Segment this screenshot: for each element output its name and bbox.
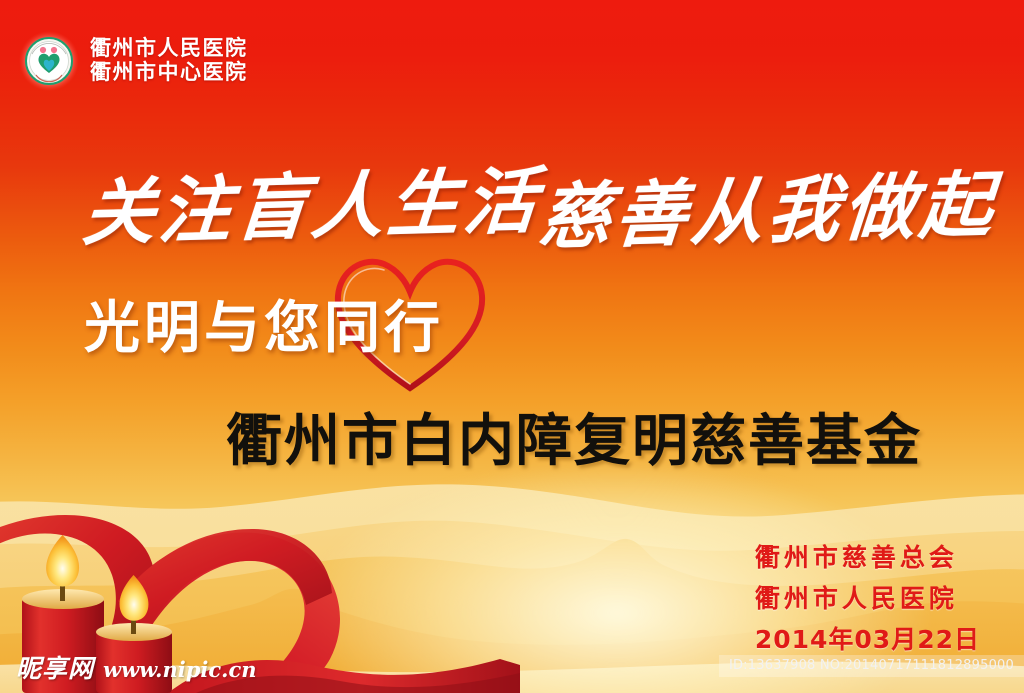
hospital-name-line1: 衢州市人民医院: [90, 37, 248, 61]
image-id-tag: ID:13637908 NO:20140717111812895000: [719, 655, 1024, 677]
signature-date: 2014年03月22日: [755, 620, 980, 656]
hospital-names: 衢州市人民医院 衢州市中心医院: [90, 37, 248, 84]
poster-canvas: 衢州市人民医院 衢州市中心医院 关注盲人生活 慈善从我做起 光明与您同行 衢州市…: [0, 0, 1024, 693]
hospital-name-line2: 衢州市中心医院: [90, 61, 248, 85]
hospital-heart-emblem-icon: [18, 30, 80, 92]
slogan-row: 关注盲人生活 慈善从我做起: [0, 148, 1024, 248]
signature-org2: 衢州市人民医院: [755, 579, 980, 615]
sub-slogan: 光明与您同行: [84, 283, 444, 364]
page-title: 衢州市白内障复明慈善基金: [226, 396, 922, 477]
signature-block: 衢州市慈善总会 衢州市人民医院 2014年03月22日: [755, 538, 980, 656]
watermark-brand: 昵享网: [16, 649, 94, 685]
slogan-left: 关注盲人生活: [79, 142, 544, 260]
slogan-right: 慈善从我做起: [535, 146, 1000, 264]
watermark-url: www.nipic.cn: [103, 657, 257, 682]
watermark: 昵享网 www.nipic.cn: [16, 649, 257, 685]
signature-org1: 衢州市慈善总会: [755, 538, 980, 574]
hospital-logo-block: 衢州市人民医院 衢州市中心医院: [18, 30, 248, 92]
